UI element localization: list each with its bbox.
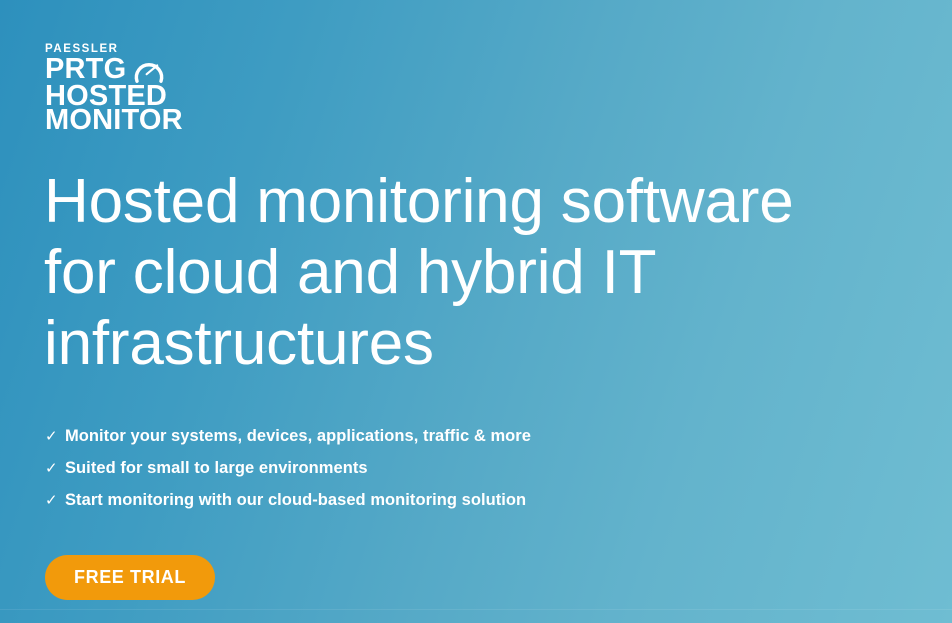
list-item: ✓ Start monitoring with our cloud-based … (45, 492, 531, 508)
check-icon: ✓ (45, 460, 65, 476)
logo-line-monitor: MONITOR (45, 108, 235, 132)
free-trial-button[interactable]: FREE TRIAL (45, 555, 215, 600)
check-icon: ✓ (45, 428, 65, 444)
logo-top-row: PAESSLER PRTG (45, 44, 235, 84)
headline-line-1: Hosted monitoring software (44, 166, 904, 237)
hero-banner: PAESSLER PRTG HOSTED MONITOR Hosted moni… (0, 0, 952, 623)
list-item-label: Start monitoring with our cloud-based mo… (65, 492, 526, 508)
list-item-label: Monitor your systems, devices, applicati… (65, 428, 531, 444)
logo-product-prtg: PRTG (45, 57, 126, 82)
speed-gauge-icon (132, 54, 166, 84)
check-icon: ✓ (45, 492, 65, 508)
list-item-label: Suited for small to large environments (65, 460, 368, 476)
feature-list: ✓ Monitor your systems, devices, applica… (45, 428, 531, 508)
headline-line-3: infrastructures (44, 308, 904, 379)
page-title: Hosted monitoring software for cloud and… (44, 166, 904, 379)
headline-line-2: for cloud and hybrid IT (44, 237, 904, 308)
prtg-hosted-monitor-logo[interactable]: PAESSLER PRTG HOSTED MONITOR (45, 44, 235, 132)
list-item: ✓ Suited for small to large environments (45, 460, 531, 476)
list-item: ✓ Monitor your systems, devices, applica… (45, 428, 531, 444)
logo-product-row: PRTG (45, 57, 235, 84)
